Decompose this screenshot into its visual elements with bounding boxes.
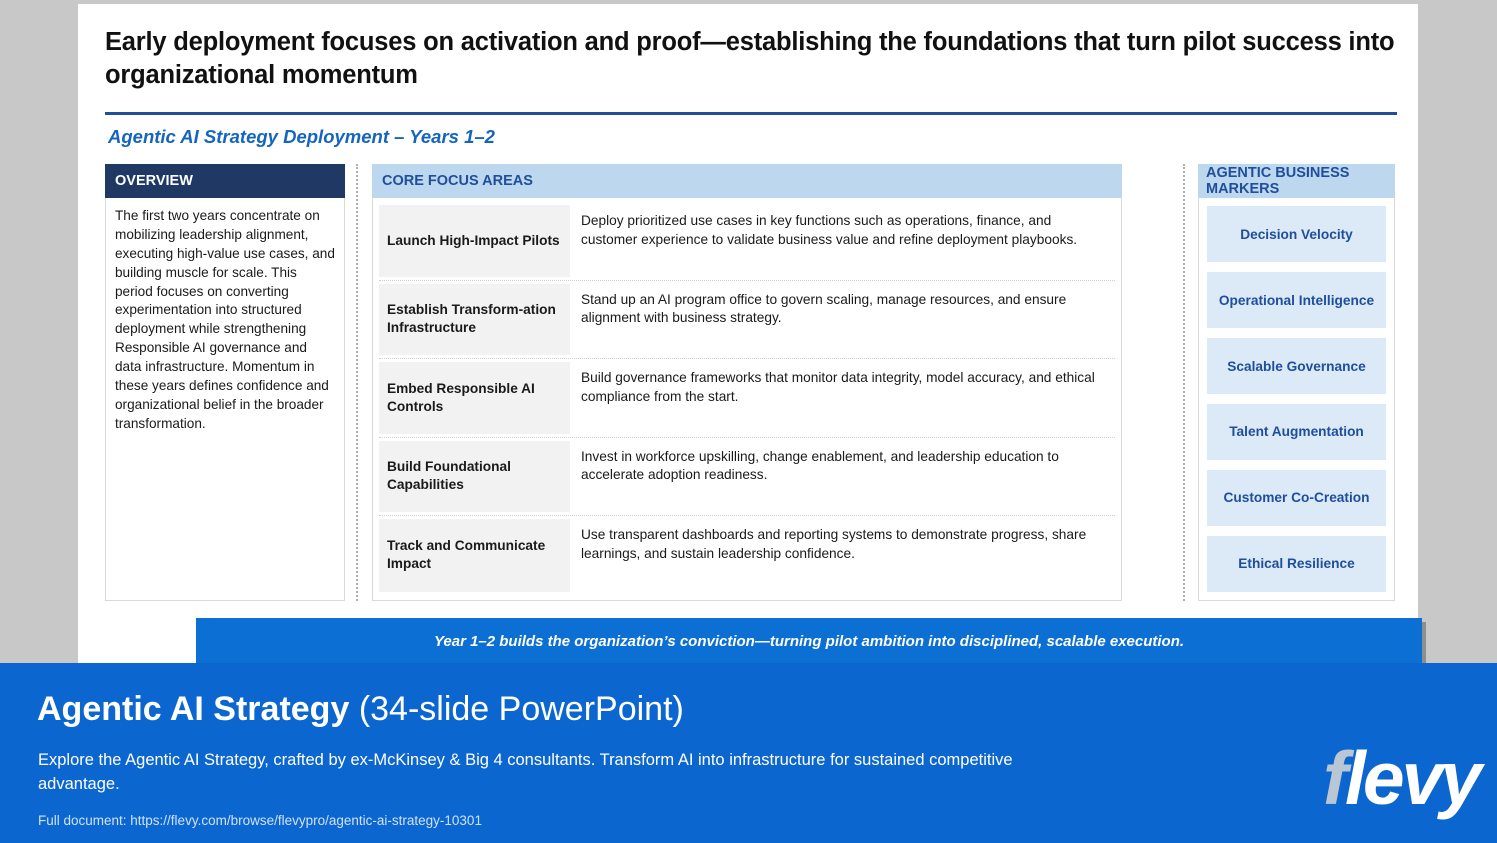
list-item: Decision Velocity (1207, 206, 1386, 262)
markers-panel: AGENTIC BUSINESS MARKERS Decision Veloci… (1198, 164, 1395, 601)
page-title: Early deployment focuses on activation a… (105, 26, 1395, 91)
list-item: Talent Augmentation (1207, 404, 1386, 460)
core-focus-panel: CORE FOCUS AREAS Launch High-Impact Pilo… (372, 164, 1122, 601)
list-item: Scalable Governance (1207, 338, 1386, 394)
core-focus-description: Use transparent dashboards and reporting… (570, 516, 1115, 595)
flevy-logo: flevy (1323, 741, 1479, 816)
flevy-logo-rest: levy (1345, 736, 1479, 820)
list-item: Ethical Resilience (1207, 536, 1386, 592)
list-item: Customer Co-Creation (1207, 470, 1386, 526)
table-row: Build Foundational Capabilities Invest i… (379, 438, 1115, 517)
core-focus-heading: CORE FOCUS AREAS (372, 164, 1122, 198)
callout-banner: Year 1–2 builds the organization’s convi… (196, 618, 1422, 664)
title-divider (105, 112, 1397, 115)
core-focus-description: Invest in workforce upskilling, change e… (570, 438, 1115, 516)
overview-text: The first two years concentrate on mobil… (105, 198, 345, 601)
list-item: Operational Intelligence (1207, 272, 1386, 328)
slide-canvas: Early deployment focuses on activation a… (78, 4, 1418, 664)
markers-list: Decision Velocity Operational Intelligen… (1198, 198, 1395, 601)
core-focus-label: Track and Communicate Impact (379, 519, 570, 592)
overview-panel: OVERVIEW The first two years concentrate… (105, 164, 345, 601)
divider-right (1183, 164, 1185, 601)
core-focus-description: Deploy prioritized use cases in key func… (570, 202, 1115, 280)
overview-heading: OVERVIEW (105, 164, 345, 198)
promo-title-bold: Agentic AI Strategy (37, 690, 349, 728)
core-focus-label: Build Foundational Capabilities (379, 441, 570, 513)
table-row: Embed Responsible AI Controls Build gove… (379, 359, 1115, 438)
table-row: Establish Transform-ation Infrastructure… (379, 281, 1115, 360)
promo-link[interactable]: Full document: https://flevy.com/browse/… (38, 813, 482, 828)
divider-left (356, 164, 358, 601)
table-row: Track and Communicate Impact Use transpa… (379, 516, 1115, 595)
promo-title: Agentic AI Strategy (34-slide PowerPoint… (37, 690, 684, 729)
promo-title-light: (34-slide PowerPoint) (359, 690, 684, 728)
slide-subtitle: Agentic AI Strategy Deployment – Years 1… (108, 126, 495, 148)
core-focus-description: Stand up an AI program office to govern … (570, 281, 1115, 359)
core-focus-rows: Launch High-Impact Pilots Deploy priorit… (372, 198, 1122, 601)
core-focus-description: Build governance frameworks that monitor… (570, 359, 1115, 437)
promo-description: Explore the Agentic AI Strategy, crafted… (38, 749, 1038, 797)
core-focus-label: Launch High-Impact Pilots (379, 205, 570, 277)
table-row: Launch High-Impact Pilots Deploy priorit… (379, 202, 1115, 281)
promo-banner: Agentic AI Strategy (34-slide PowerPoint… (0, 663, 1497, 843)
core-focus-label: Embed Responsible AI Controls (379, 362, 570, 434)
markers-heading: AGENTIC BUSINESS MARKERS (1198, 164, 1395, 198)
flevy-logo-f: f (1323, 736, 1345, 820)
core-focus-label: Establish Transform-ation Infrastructure (379, 284, 570, 356)
